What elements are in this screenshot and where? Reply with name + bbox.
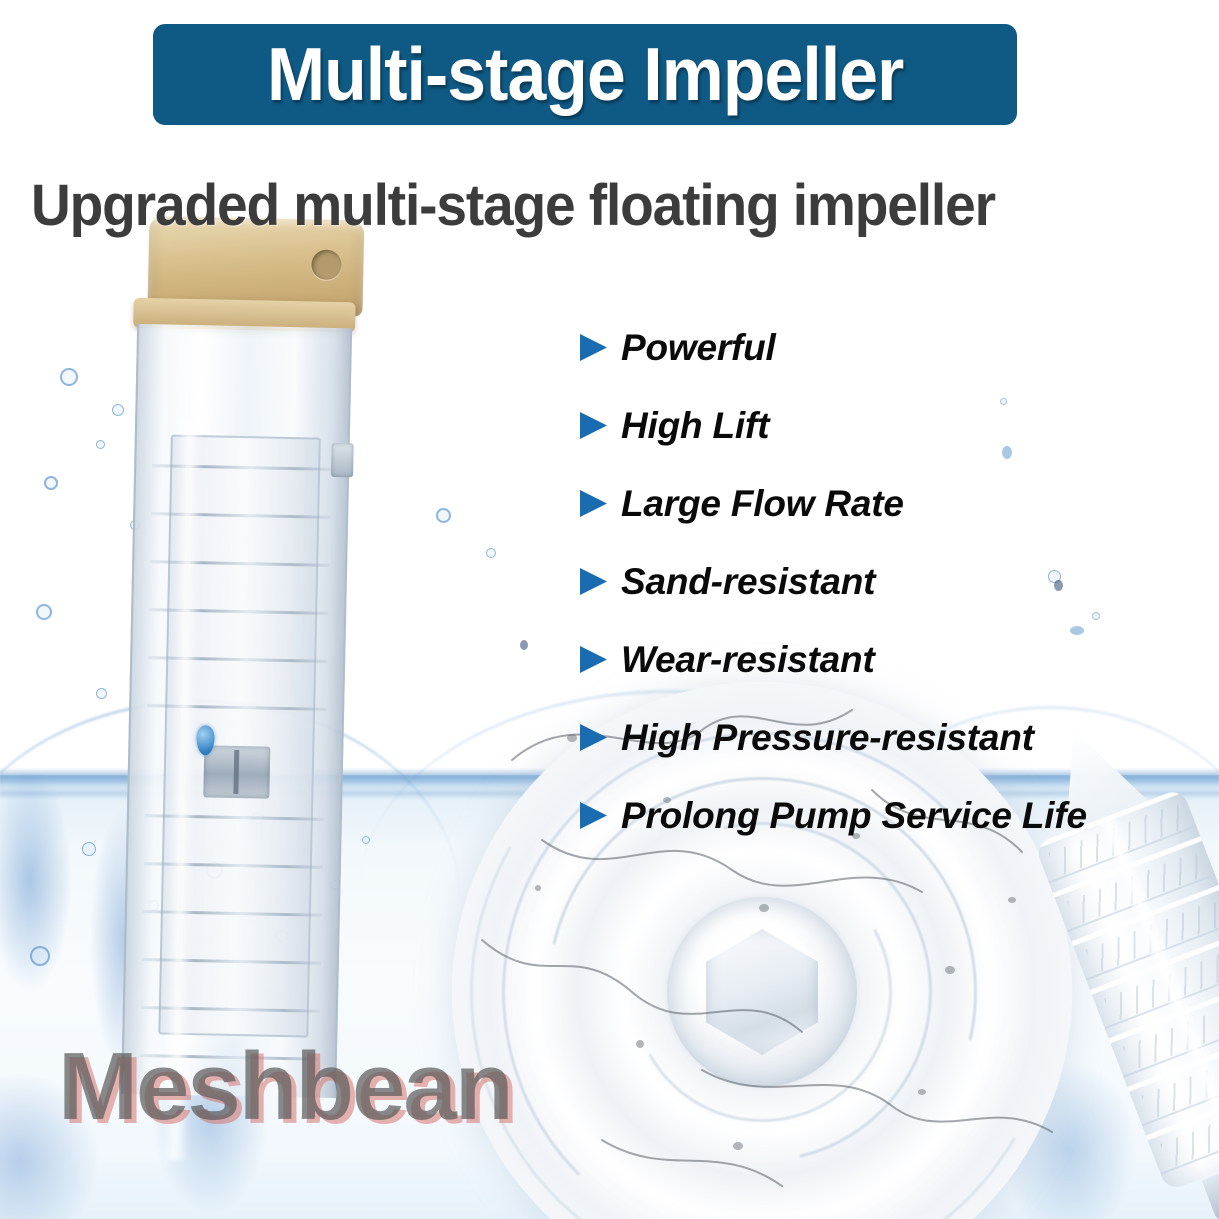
bubble — [112, 404, 124, 416]
feature-item-prolong-pump-service-life: Prolong Pump Service Life — [578, 793, 1087, 837]
feature-label: High Pressure-resistant — [621, 719, 1034, 756]
feature-label: Large Flow Rate — [621, 485, 904, 522]
submersible-pump-image — [109, 236, 367, 1101]
banner-title: Multi-stage Impeller — [267, 37, 903, 112]
bubble — [60, 368, 78, 386]
impeller-hex-hub — [706, 929, 818, 1055]
feature-label: Prolong Pump Service Life — [621, 797, 1087, 834]
feature-item-high-pressure-resistant: High Pressure-resistant — [578, 715, 1087, 759]
header-banner: Multi-stage Impeller — [153, 24, 1017, 125]
bubble — [96, 440, 105, 449]
bubble — [436, 508, 451, 523]
bubble — [1092, 612, 1100, 620]
feature-label: Powerful — [621, 329, 776, 366]
feature-item-high-lift: High Lift — [578, 403, 1087, 447]
feature-label: Wear-resistant — [621, 641, 875, 678]
pump-center-hub — [203, 745, 270, 798]
bubble — [96, 688, 107, 699]
triangle-right-icon — [578, 567, 609, 596]
triangle-right-icon — [578, 723, 609, 752]
bubble — [82, 842, 96, 856]
feature-item-large-flow-rate: Large Flow Rate — [578, 481, 1087, 525]
water-droplet — [520, 640, 528, 650]
bubble — [486, 548, 496, 558]
triangle-right-icon — [578, 645, 609, 674]
impeller-eye — [667, 897, 857, 1087]
bubble — [362, 836, 370, 844]
feature-label: Sand-resistant — [621, 563, 875, 600]
feature-item-sand-resistant: Sand-resistant — [578, 559, 1087, 603]
brand-watermark: Meshbean — [58, 1039, 511, 1135]
bubble — [44, 476, 58, 490]
pump-latch-tab — [331, 443, 354, 477]
feature-item-powerful: Powerful — [578, 325, 1087, 369]
bubble — [36, 604, 52, 620]
triangle-right-icon — [578, 333, 609, 362]
feature-list: Powerful High Lift Large Flow Rate Sand-… — [578, 325, 1087, 871]
feature-label: High Lift — [621, 407, 769, 444]
feature-item-wear-resistant: Wear-resistant — [578, 637, 1087, 681]
bubble — [30, 946, 50, 966]
triangle-right-icon — [578, 801, 609, 830]
triangle-right-icon — [578, 411, 609, 440]
pump-housing — [121, 324, 352, 1098]
product-image-canvas: Multi-stage Impeller Upgraded multi-stag… — [0, 0, 1219, 1219]
triangle-right-icon — [578, 489, 609, 518]
subtitle: Upgraded multi-stage floating impeller — [31, 176, 1138, 237]
